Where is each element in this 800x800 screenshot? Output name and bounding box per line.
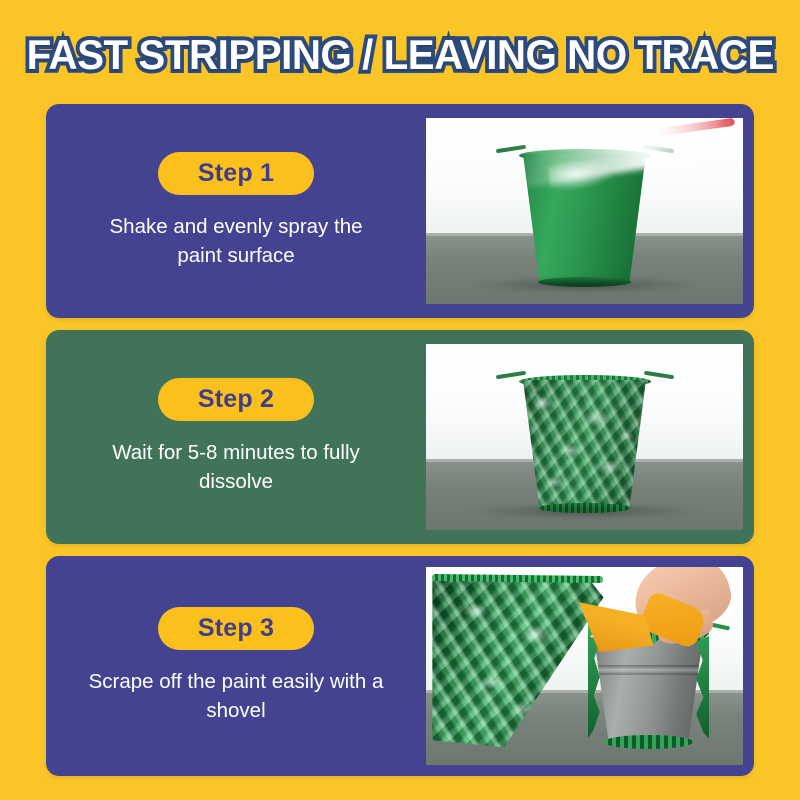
step-3-photo: [426, 567, 743, 765]
step-3-text-column: Step 3 Scrape off the paint easily with …: [46, 607, 426, 725]
step-card-2: Step 2 Wait for 5-8 minutes to fully dis…: [46, 330, 754, 544]
bucket-shadow: [470, 503, 698, 519]
step-1-badge: Step 1: [158, 152, 314, 195]
page-title: FAST STRIPPING / LEAVING NO TRACE: [26, 31, 773, 79]
header: FAST STRIPPING / LEAVING NO TRACE: [0, 0, 800, 104]
scene-spray-bucket: [426, 118, 743, 304]
step-1-photo: [426, 118, 743, 304]
step-1-text-column: Step 1 Shake and evenly spray the paint …: [46, 152, 426, 270]
step-3-description: Scrape off the paint easily with a shove…: [86, 667, 386, 725]
wrinkled-paint-bucket: [510, 380, 660, 508]
step-2-text-column: Step 2 Wait for 5-8 minutes to fully dis…: [46, 378, 426, 496]
step-card-1: Step 1 Shake and evenly spray the paint …: [46, 104, 754, 318]
step-2-photo: [426, 344, 743, 530]
step-2-badge: Step 2: [158, 378, 314, 421]
step-card-3: Step 3 Scrape off the paint easily with …: [46, 556, 754, 776]
scene-dissolving-bucket: [426, 344, 743, 530]
bucket-body: [510, 380, 660, 508]
step-3-badge: Step 3: [158, 607, 314, 650]
scene-scraping-bucket: [426, 567, 743, 765]
steps-list: Step 1 Shake and evenly spray the paint …: [0, 104, 800, 776]
step-2-description: Wait for 5-8 minutes to fully dissolve: [86, 438, 386, 496]
step-1-description: Shake and evenly spray the paint surface: [86, 212, 386, 270]
bucket-shadow: [470, 277, 698, 293]
